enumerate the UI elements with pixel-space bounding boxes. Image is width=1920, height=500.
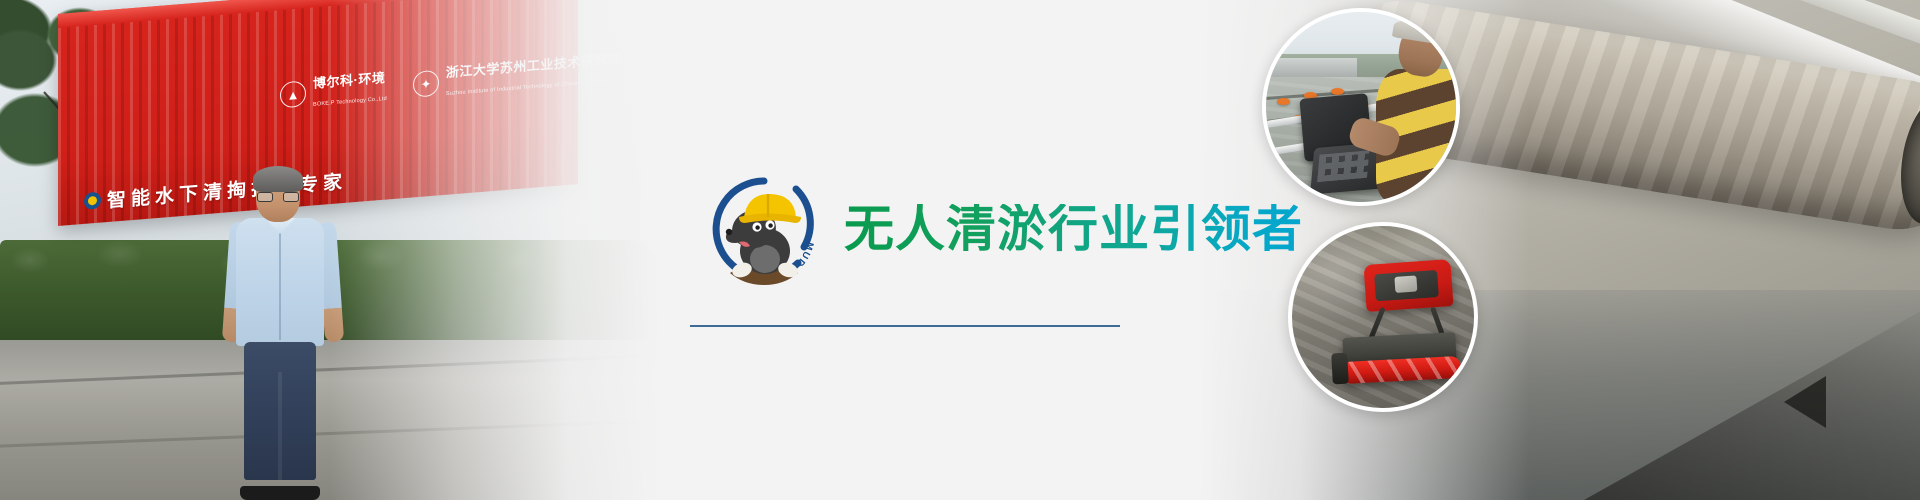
operator-shed [1270, 58, 1357, 79]
hero-banner: ▲ 博尔科·环境 BOKE.P Technology Co.,Ltd ✦ 浙江大… [0, 0, 1920, 500]
left-photo: ▲ 博尔科·环境 BOKE.P Technology Co.,Ltd ✦ 浙江大… [0, 0, 660, 500]
person-engineer [228, 170, 338, 500]
center-content: MUD MOLE [660, 0, 1260, 500]
pipe-mouth [1893, 93, 1920, 229]
left-photo-fade [330, 0, 660, 500]
boke-mark-icon: ▲ [280, 80, 306, 108]
mud-mole-logo: MUD MOLE [708, 173, 820, 285]
dredger-chassis [1363, 259, 1453, 312]
photo-dredger [1288, 222, 1478, 412]
person-shirt [236, 218, 324, 346]
person-glasses [257, 192, 299, 202]
divider [690, 325, 1120, 327]
mud-mole-logo-icon: MUD MOLE [708, 173, 820, 285]
brand-row: MUD MOLE [708, 173, 1303, 285]
person-shoes [240, 486, 320, 500]
person-trousers [244, 342, 316, 480]
dredger-auger-endcap [1331, 353, 1349, 385]
person-hair [253, 166, 303, 192]
float-buoy [1331, 88, 1344, 95]
arrow-icon [1784, 376, 1826, 428]
page-title: 无人清淤行业引领者 [844, 204, 1303, 254]
